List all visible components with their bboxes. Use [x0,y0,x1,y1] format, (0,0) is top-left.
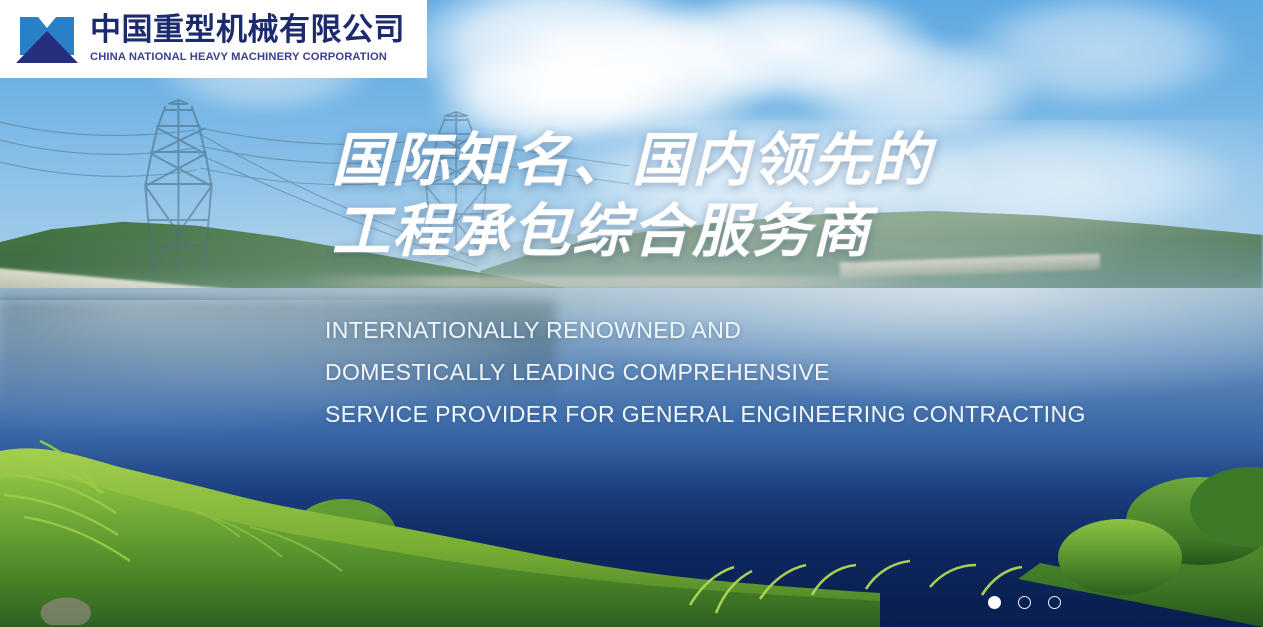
carousel-dot-2[interactable] [1018,596,1031,609]
carousel-pagination[interactable] [988,596,1061,609]
headline-line-2: 工程承包综合服务商 [332,195,932,268]
company-name-cn: 中国重型机械有限公司 [90,14,405,47]
hero-banner: 中国重型机械有限公司 CHINA NATIONAL HEAVY MACHINER… [0,0,1263,627]
logo-panel[interactable]: 中国重型机械有限公司 CHINA NATIONAL HEAVY MACHINER… [0,0,427,78]
hero-headline: 国际知名、国内领先的 工程承包综合服务商 [332,124,932,268]
foreground-vegetation [0,417,1263,627]
logo-text-block: 中国重型机械有限公司 CHINA NATIONAL HEAVY MACHINER… [90,14,405,64]
subtitle-line-1: INTERNATIONALLY RENOWNED AND [325,310,1086,352]
carousel-dot-1[interactable] [988,596,1001,609]
headline-line-1: 国际知名、国内领先的 [332,124,932,197]
hero-subtitle: INTERNATIONALLY RENOWNED AND DOMESTICALL… [325,310,1086,436]
subtitle-line-3: SERVICE PROVIDER FOR GENERAL ENGINEERING… [325,394,1086,436]
subtitle-line-2: DOMESTICALLY LEADING COMPREHENSIVE [325,352,1086,394]
cnhmc-mountain-logo-icon [14,11,80,67]
carousel-dot-3[interactable] [1048,596,1061,609]
company-name-en: CHINA NATIONAL HEAVY MACHINERY CORPORATI… [90,50,405,64]
